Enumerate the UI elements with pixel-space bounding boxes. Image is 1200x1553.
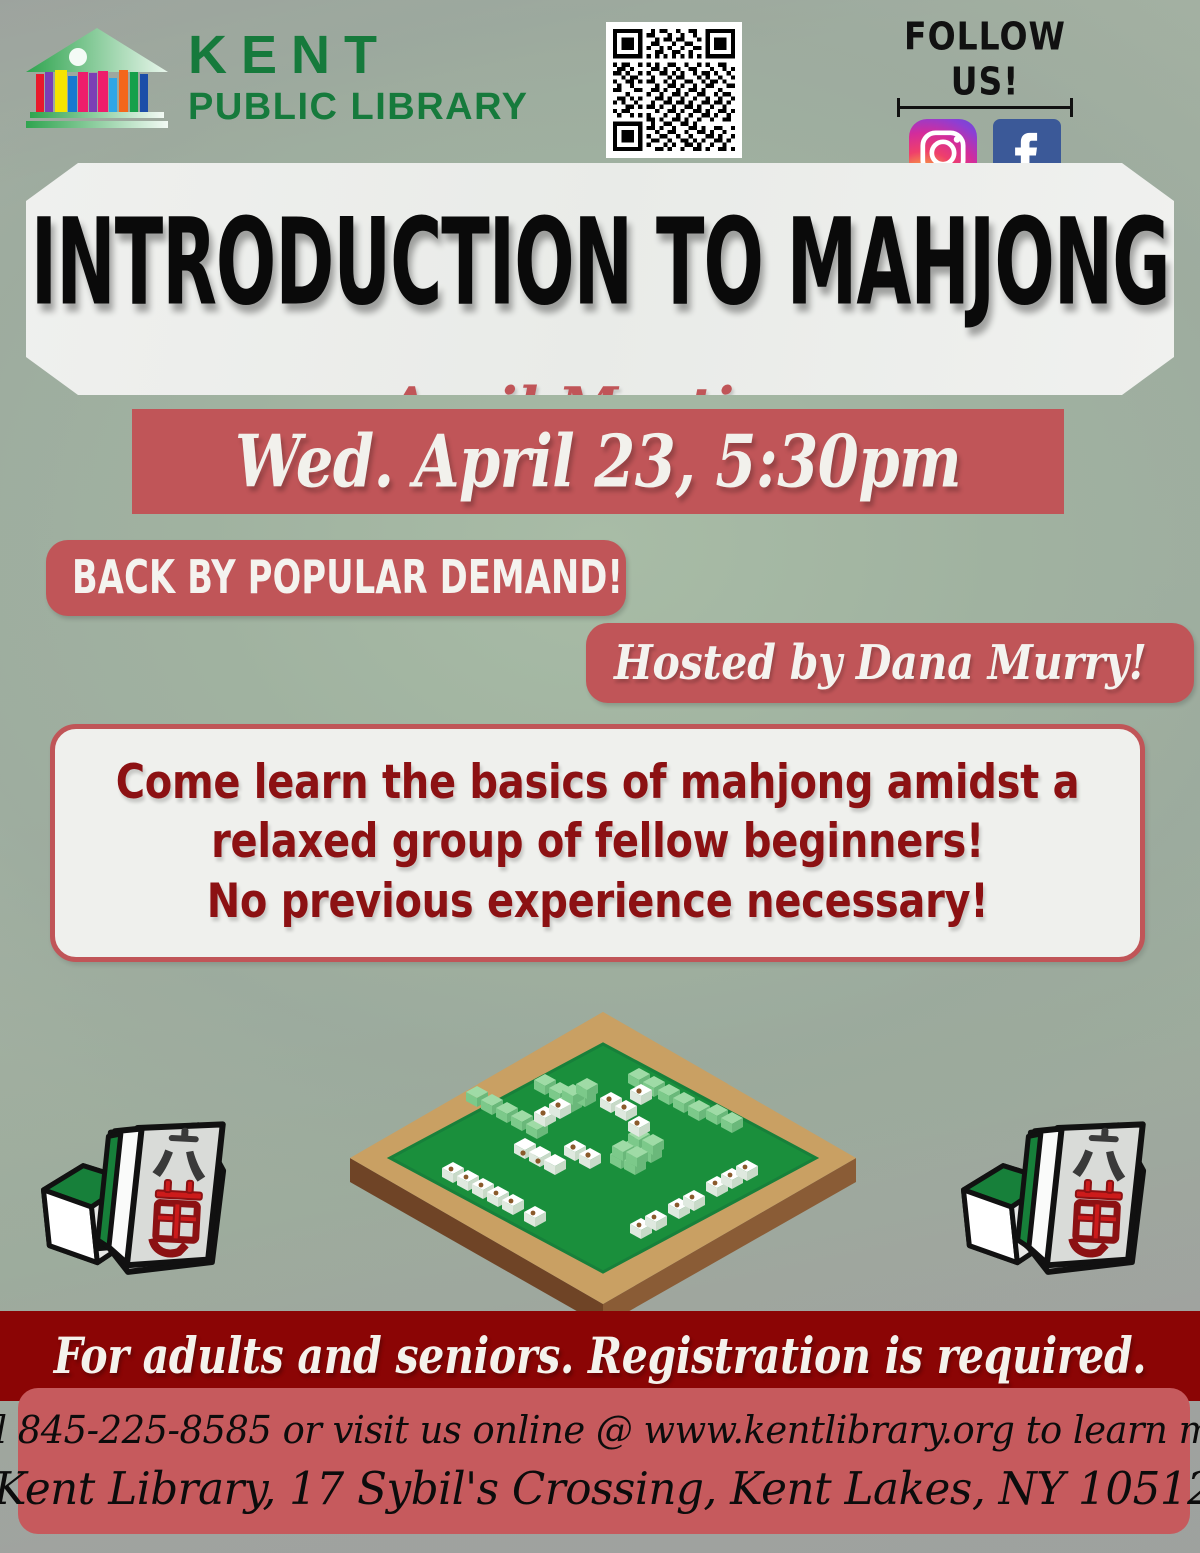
logo-name-kent: KENT [188,28,528,82]
description-box: Come learn the basics of mahjong amidst … [50,724,1145,962]
logo-wordmark: KENT PUBLIC LIBRARY [188,28,528,126]
description-line-3: No previous experience necessary! [207,872,989,932]
library-building-books-icon [22,22,172,132]
title-banner: INTRODUCTION TO MAHJONG April Meeting [26,163,1174,395]
follow-us-divider [897,106,1073,109]
back-by-popular-demand-text: BACK BY POPULAR DEMAND! [72,551,623,605]
event-date-bar: Wed. April 23, 5:30pm [132,409,1064,514]
mahjong-tile-six-characters-icon [32,1100,262,1300]
qr-code[interactable] [606,22,742,158]
follow-us-label: FOLLOW US! [880,14,1090,104]
host-text: Hosted by Dana Murry! [614,635,1147,691]
logo-name-public-library: PUBLIC LIBRARY [188,88,528,126]
description-line-2: relaxed group of fellow beginners! [211,813,984,873]
host-badge: Hosted by Dana Murry! [586,623,1194,703]
follow-us-block: FOLLOW US! [880,14,1090,187]
mahjong-tile-six-characters-icon [952,1100,1182,1300]
library-address: Kent Library, 17 Sybil's Crossing, Kent … [0,1462,1200,1515]
registration-notice-text: For adults and seniors. Registration is … [54,1327,1147,1386]
mahjong-table-svg [338,986,868,1326]
mahjong-tile-pair-left [32,1100,262,1300]
description-line-1: Come learn the basics of mahjong amidst … [116,754,1080,814]
contact-info-box: Call 845-225-8585 or visit us online @ w… [18,1388,1190,1534]
poster-header: KENT PUBLIC LIBRARY [0,0,1200,165]
library-logo: KENT PUBLIC LIBRARY [22,22,528,132]
mahjong-table-illustration [338,986,868,1326]
event-date-text: Wed. April 23, 5:30pm [235,419,961,503]
contact-phone-website[interactable]: Call 845-225-8585 or visit us online @ w… [0,1408,1200,1452]
back-by-popular-demand-badge: BACK BY POPULAR DEMAND! [46,540,626,616]
poster-canvas: KENT PUBLIC LIBRARY [0,0,1200,1553]
mahjong-tile-pair-right [952,1100,1182,1300]
qr-code-icon [613,29,735,151]
page-title: INTRODUCTION TO MAHJONG [31,203,1170,323]
